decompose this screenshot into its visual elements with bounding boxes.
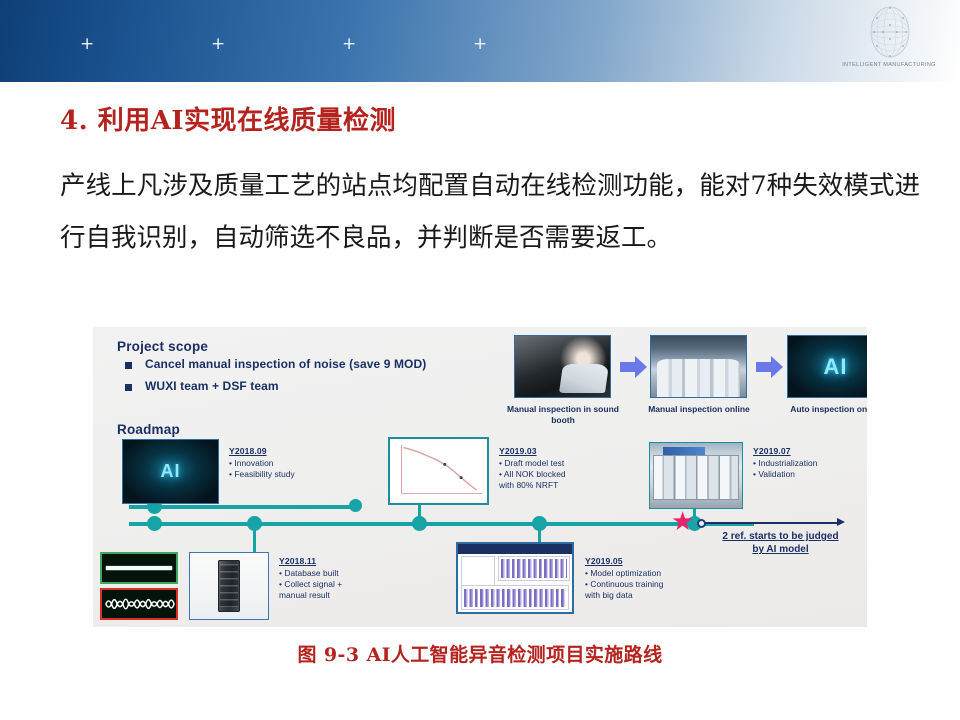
globe-wireframe-icon — [862, 4, 918, 60]
plus-decoration-4: + — [473, 36, 487, 53]
analytics-dashboard-image — [458, 544, 572, 612]
milestone-bullets-2018-09: • Innovation • Feasibility study — [229, 458, 295, 480]
decline-line-chart — [390, 439, 487, 503]
auto-inspection-ai-image — [788, 336, 867, 397]
dashboard-pane-3 — [461, 585, 569, 610]
arrow-right-icon-1 — [620, 355, 648, 379]
photo-caption-2: Manual inspection online — [635, 404, 763, 415]
photo-caption-1: Manual inspection in sound booth — [499, 404, 627, 425]
photo-manual-inspection-online — [650, 335, 747, 398]
ref-arrow-line — [705, 522, 838, 524]
timeline-upper-rail — [129, 505, 355, 509]
roadmap-heading: Roadmap — [117, 422, 180, 437]
milestone-bullets-2019-07: • Industrialization • Validation — [753, 458, 817, 480]
bullet-square-icon-1 — [125, 362, 132, 369]
logo-wordmark: INTELLIGENT MANUFACTURING — [834, 62, 944, 68]
dashboard-pane-2 — [498, 556, 570, 582]
timeline-node-5 — [349, 499, 362, 512]
timeline-node-6 — [532, 516, 547, 531]
ai-chip-image — [123, 440, 218, 503]
dashboard-bars-2 — [464, 589, 566, 607]
milestone-bullets-2018-11: • Database built • Collect signal + manu… — [279, 568, 342, 601]
figure-caption: 图 9-3 AI人工智能异音检测项目实施路线 — [0, 640, 960, 667]
project-scope-heading: Project scope — [117, 339, 208, 354]
thumbnail-decline-chart — [388, 437, 489, 505]
thumbnail-analytics-dashboard — [456, 542, 574, 614]
nok-signal-waveform-icon — [102, 590, 176, 618]
project-scope-item-1: Cancel manual inspection of noise (save … — [145, 357, 426, 371]
milestone-bullets-2019-03: • Draft model test • All NOK blocked wit… — [499, 458, 566, 491]
header-band: + + + + INTELLI — [0, 0, 960, 82]
body-paragraph: 产线上凡涉及质量工艺的站点均配置自动在线检测功能，能对7种失效模式进行自我识别，… — [60, 160, 920, 264]
timeline-node-4 — [412, 516, 427, 531]
milestone-date-2018-11: Y2018.11 — [279, 556, 316, 566]
production-equipment-image — [650, 443, 742, 508]
milestone-date-2019-05: Y2019.05 — [585, 556, 623, 566]
dashboard-bars-1 — [501, 559, 567, 578]
photo-caption-3: Auto inspection online — [772, 404, 867, 415]
milestone-date-2018-09: Y2018.09 — [229, 446, 267, 456]
brand-logo: INTELLIGENT MANUFACTURING — [834, 4, 944, 78]
timeline-node-3 — [247, 516, 262, 531]
dashboard-pane-1 — [461, 556, 495, 587]
thumbnail-ai-chip — [122, 439, 219, 504]
bullet-square-icon-2 — [125, 384, 132, 391]
thumbnail-production-equipment — [649, 442, 743, 509]
waveform-nok-card — [100, 588, 178, 620]
plus-decoration-3: + — [342, 36, 356, 53]
slide: + + + + INTELLI — [0, 0, 960, 720]
roadmap-figure: Project scope Cancel manual inspection o… — [93, 327, 867, 627]
manual-inspection-booth-image — [515, 336, 610, 397]
ref-annotation-text: 2 ref. starts to be judged by AI model — [688, 530, 867, 556]
plus-decoration-1: + — [80, 36, 94, 53]
ok-signal-waveform-icon — [102, 554, 176, 582]
waveform-ok-card — [100, 552, 178, 584]
milestone-date-2019-03: Y2019.03 — [499, 446, 537, 456]
project-scope-item-2: WUXI team + DSF team — [145, 379, 279, 393]
photo-auto-inspection-online — [787, 335, 867, 398]
milestone-date-2019-07: Y2019.07 — [753, 446, 791, 456]
photo-manual-inspection-booth — [514, 335, 611, 398]
server-tower-image — [190, 553, 268, 619]
page-title: 4. 利用AI实现在线质量检测 — [60, 100, 396, 137]
timeline-node-2 — [147, 516, 162, 531]
thumbnail-server-tower — [189, 552, 269, 620]
milestone-bullets-2019-05: • Model optimization • Continuous traini… — [585, 568, 663, 601]
manual-inspection-online-image — [651, 336, 746, 397]
ref-arrow-head-icon — [837, 518, 845, 526]
arrow-right-icon-2 — [756, 355, 784, 379]
timeline-main-rail — [129, 522, 754, 526]
dashboard-header-bar — [458, 544, 572, 554]
plus-decoration-2: + — [211, 36, 225, 53]
